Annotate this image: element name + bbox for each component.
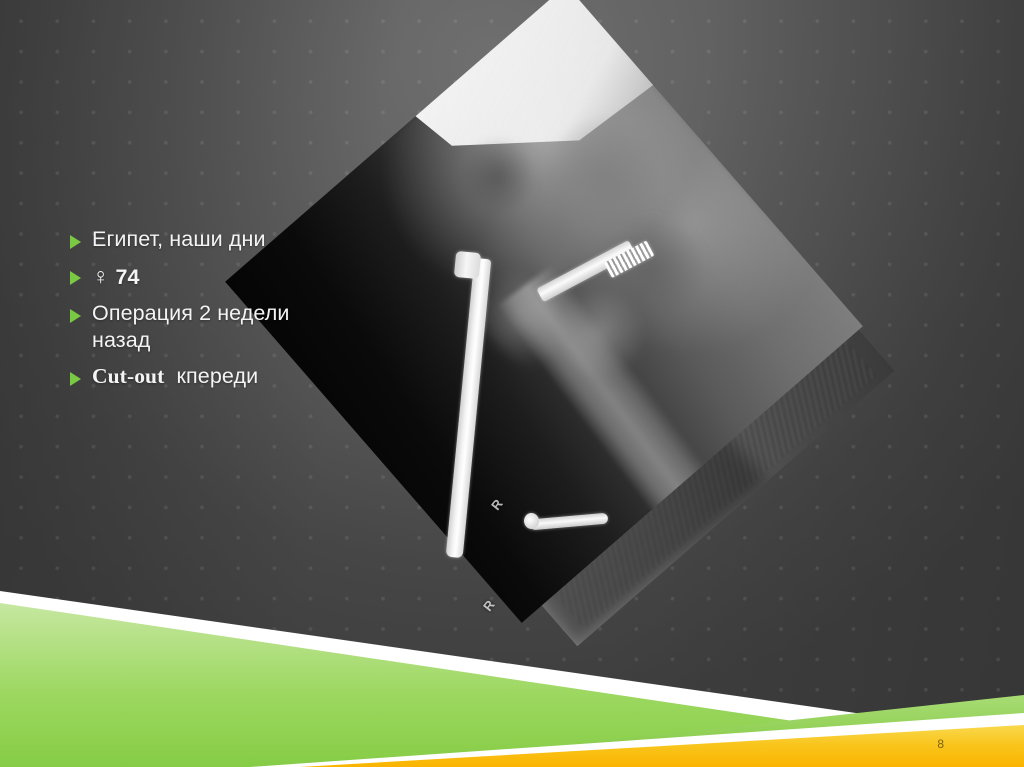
cutout-term: Cut-out bbox=[92, 364, 164, 388]
patient-age: 74 bbox=[115, 265, 139, 289]
bullet-list: Египет, наши дни ♀ 74 Операция 2 недели … bbox=[70, 226, 340, 399]
female-symbol-icon: ♀ bbox=[92, 263, 109, 289]
bullet-label-patient: ♀ 74 bbox=[92, 262, 140, 291]
bullet-item-cutout: Cut-out кпереди bbox=[70, 363, 340, 390]
bullet-item-country: Египет, наши дни bbox=[70, 226, 340, 253]
bullet-item-operation: Операция 2 недели назад bbox=[70, 300, 340, 354]
bullet-label-country: Египет, наши дни bbox=[92, 226, 266, 253]
bullet-label-operation: Операция 2 недели назад bbox=[92, 300, 340, 354]
bullet-triangle-icon bbox=[70, 309, 81, 323]
implant-nail-head bbox=[454, 251, 481, 279]
bullet-item-patient: ♀ 74 bbox=[70, 262, 340, 291]
bullet-triangle-icon bbox=[70, 271, 81, 285]
bullet-label-cutout: Cut-out кпереди bbox=[92, 363, 258, 390]
bullet-triangle-icon bbox=[70, 372, 81, 386]
slide-canvas: R R Египет, наши дни ♀ 74 Операция 2 нед… bbox=[0, 0, 1024, 767]
page-number: 8 bbox=[937, 737, 944, 751]
bullet-triangle-icon bbox=[70, 235, 81, 249]
cutout-direction: кпереди bbox=[177, 364, 259, 388]
xray-side-marker-lower: R bbox=[480, 597, 498, 614]
